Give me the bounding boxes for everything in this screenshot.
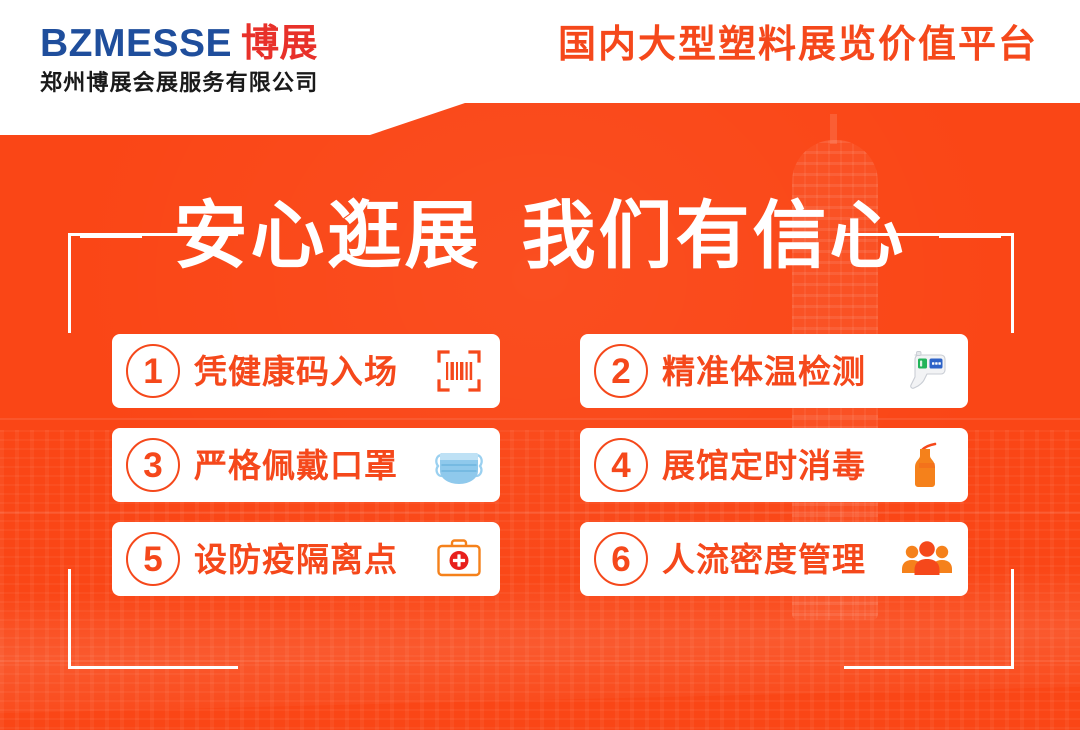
logo-wordmark: BZMESSE博展 xyxy=(40,24,318,63)
title-part-1: 安心逛展 xyxy=(174,194,482,277)
title-part-2: 我们有信心 xyxy=(522,194,907,277)
measure-number: 4 xyxy=(594,438,648,492)
measure-label: 设防疫隔离点 xyxy=(194,543,428,576)
promotional-banner: BZMESSE博展 郑州博展会展服务有限公司 国内大型塑料展览价值平台 安心逛展… xyxy=(0,0,1080,730)
measure-label: 严格佩戴口罩 xyxy=(194,449,428,482)
measure-label: 精准体温检测 xyxy=(662,355,896,388)
list-item[interactable]: 4 展馆定时消毒 xyxy=(580,428,968,502)
people-group-icon xyxy=(900,532,954,586)
list-item[interactable]: 2 精准体温检测 xyxy=(580,334,968,408)
measures-list: 1 凭健康码入场 xyxy=(112,334,972,596)
list-item[interactable]: 3 严格佩戴口罩 xyxy=(112,428,500,502)
spray-bottle-icon xyxy=(900,438,954,492)
first-aid-kit-icon xyxy=(432,532,486,586)
logo-chinese-text: 博展 xyxy=(241,23,318,65)
frame-corner-bottom-left-h xyxy=(68,666,238,669)
frame-corner-bottom-right-v xyxy=(1011,569,1014,669)
company-name: 郑州博展会展服务有限公司 xyxy=(40,72,318,94)
measure-number: 1 xyxy=(126,344,180,398)
thermometer-gun-icon xyxy=(900,344,954,398)
measure-label: 人流密度管理 xyxy=(662,543,896,576)
frame-corner-bottom-right-h xyxy=(844,666,1014,669)
header-tagline: 国内大型塑料展览价值平台 xyxy=(558,26,1038,64)
measure-number: 3 xyxy=(126,438,180,492)
main-title-row: 安心逛展我们有信心 xyxy=(0,188,1080,284)
list-item[interactable]: 5 设防疫隔离点 xyxy=(112,522,500,596)
face-mask-icon xyxy=(432,438,486,492)
banner-header: BZMESSE博展 郑州博展会展服务有限公司 国内大型塑料展览价值平台 xyxy=(0,0,1080,135)
logo-latin-text: BZMESSE xyxy=(40,22,232,65)
list-item[interactable]: 1 凭健康码入场 xyxy=(112,334,500,408)
measure-number: 5 xyxy=(126,532,180,586)
company-logo: BZMESSE博展 郑州博展会展服务有限公司 xyxy=(40,24,318,94)
title-dash-left-icon xyxy=(80,234,142,238)
measure-number: 2 xyxy=(594,344,648,398)
page-title: 安心逛展我们有信心 xyxy=(174,199,907,273)
measure-number: 6 xyxy=(594,532,648,586)
list-item[interactable]: 6 人流密度管理 xyxy=(580,522,968,596)
measure-label: 展馆定时消毒 xyxy=(662,449,896,482)
barcode-scan-icon xyxy=(432,344,486,398)
frame-corner-bottom-left-v xyxy=(68,569,71,669)
title-dash-right-icon xyxy=(939,234,1001,238)
measure-label: 凭健康码入场 xyxy=(194,355,428,388)
